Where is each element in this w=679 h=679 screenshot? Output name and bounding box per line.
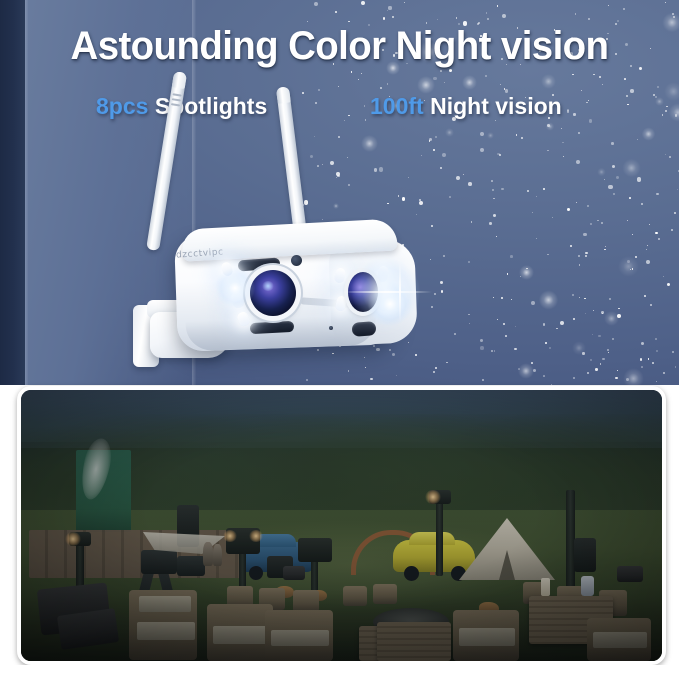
antenna-band	[172, 93, 181, 96]
hero-section: Astounding Color Night vision 8pcs Spotl…	[0, 0, 679, 385]
night-vision-sample-photo: FAM	[17, 386, 666, 665]
antenna-cap	[172, 71, 187, 89]
microphone-icon	[329, 326, 333, 330]
lens-flare-ray	[399, 262, 401, 322]
antenna-left-icon	[146, 71, 187, 251]
main-camera-lens-icon	[250, 270, 296, 316]
photo-canvas: FAM	[21, 390, 662, 661]
security-camera-product: dzcctvipc	[0, 0, 679, 385]
lens-flare-ray	[342, 291, 432, 293]
antenna-cap	[276, 86, 291, 103]
ir-sensor-slot-right	[352, 321, 377, 337]
photo-vignette	[21, 390, 662, 661]
antenna-band	[172, 98, 181, 101]
light-sensor-icon	[291, 255, 302, 266]
antenna-band	[171, 103, 180, 106]
bottom-margin	[0, 665, 679, 679]
product-marketing-image: Astounding Color Night vision 8pcs Spotl…	[0, 0, 679, 679]
ir-sensor-slot-bottom	[250, 321, 295, 334]
